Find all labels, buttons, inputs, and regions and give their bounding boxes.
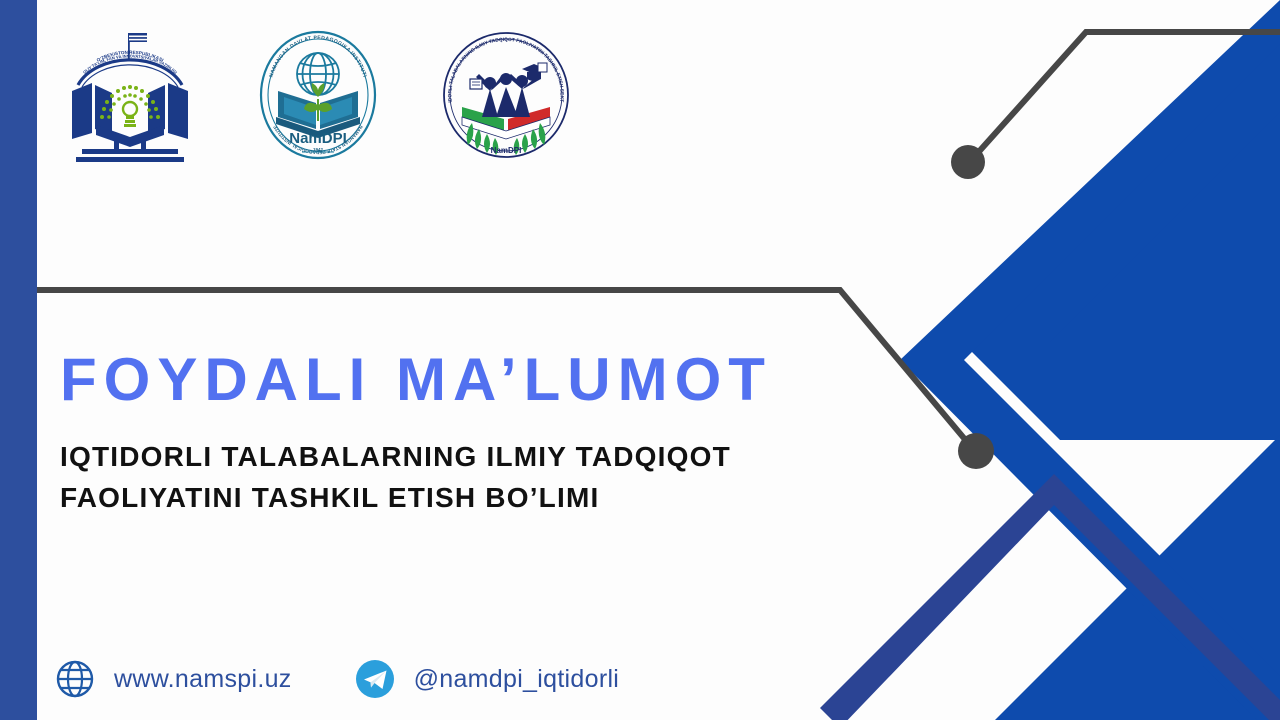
left-accent-stripe [0, 0, 37, 720]
blue-chevron-solid [960, 55, 1280, 720]
svg-text:1942: 1942 [313, 147, 324, 152]
top-connector-line [975, 32, 1280, 156]
footer: www.namspi.uz @namdpi_iqtidorli [52, 656, 619, 702]
sector-abbreviation: NamDPI [491, 146, 522, 155]
page-subtitle: IQTIDORLI TALABALARNING ILMIY TADQIQOT F… [60, 411, 860, 518]
title-block: FOYDALI MA’LUMOT IQTIDORLI TALABALARNING… [60, 348, 940, 518]
website-label: www.namspi.uz [114, 665, 292, 694]
subtitle-line-1: IQTIDORLI TALABALARNING ILMIY TADQIQOT [60, 441, 731, 472]
sector-book-small-icon [470, 79, 482, 89]
namdpi-globe-icon [297, 53, 339, 95]
slide-root: O‘ZBEKISTON RESPUBLIKASI OLIY TA’LIM, FA… [0, 0, 1280, 720]
footer-website[interactable]: www.namspi.uz [52, 656, 292, 702]
logo-uzbekistan-ministry: O‘ZBEKISTON RESPUBLIKASI OLIY TA’LIM, FA… [62, 25, 198, 165]
logo-row: O‘ZBEKISTON RESPUBLIKASI OLIY TA’LIM, FA… [62, 25, 574, 165]
telegram-label: @namdpi_iqtidorli [414, 665, 620, 694]
logo-iqtidorli-sector: IQTIDORLI TALABALARNING ILMIY TADQIQOT F… [438, 25, 574, 165]
telegram-icon [352, 656, 398, 702]
blue-chevron-solid-main [995, 110, 1280, 720]
globe-icon [52, 656, 98, 702]
namdpi-abbreviation: NamDPI [289, 130, 347, 147]
svg-text:OLIY TA’LIM, FAN VA INNOVATSIY: OLIY TA’LIM, FAN VA INNOVATSIYALAR VAZIR… [82, 54, 178, 75]
ministry-arc-text: O‘ZBEKISTON RESPUBLIKASI OLIY TA’LIM, FA… [78, 50, 182, 87]
blue-chevron-outline [900, 0, 1280, 720]
logo-namdpi-institute: NAMANGAN DAVLAT PEDAGOGIKA INSTITUTI NAM… [250, 25, 386, 165]
middle-connector-dot [958, 433, 994, 469]
sector-diploma-icon [538, 63, 547, 72]
top-connector-dot [951, 145, 985, 179]
subtitle-line-2: FAOLIYATINI TASHKIL ETISH BO’LIMI [60, 482, 599, 513]
blue-chevron-solid-top [960, 22, 1280, 342]
footer-telegram[interactable]: @namdpi_iqtidorli [352, 656, 620, 702]
sector-figures-icon [476, 64, 546, 117]
page-title: FOYDALI MA’LUMOT [60, 348, 940, 411]
svg-text:NAMANGAN DAVLAT PEDAGOGIKA INS: NAMANGAN DAVLAT PEDAGOGIKA INSTITUTI [268, 35, 367, 78]
